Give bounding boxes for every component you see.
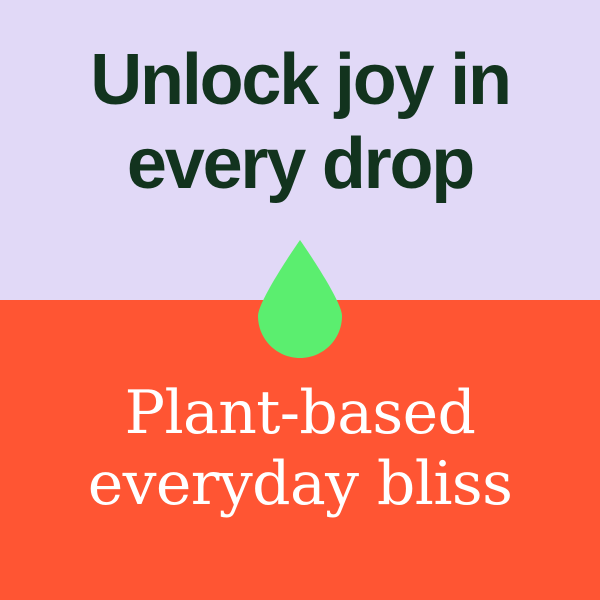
headline-line-1: Unlock joy in bbox=[0, 38, 600, 122]
water-droplet-icon bbox=[258, 240, 342, 358]
subhead-line-1: Plant-based bbox=[0, 378, 600, 449]
headline-line-2: every drop bbox=[0, 122, 600, 206]
subhead: Plant-based everyday bliss bbox=[0, 378, 600, 520]
subhead-line-2: everyday bliss bbox=[0, 449, 600, 520]
promo-card: Unlock joy in every drop Plant-based eve… bbox=[0, 0, 600, 600]
headline: Unlock joy in every drop bbox=[0, 38, 600, 206]
